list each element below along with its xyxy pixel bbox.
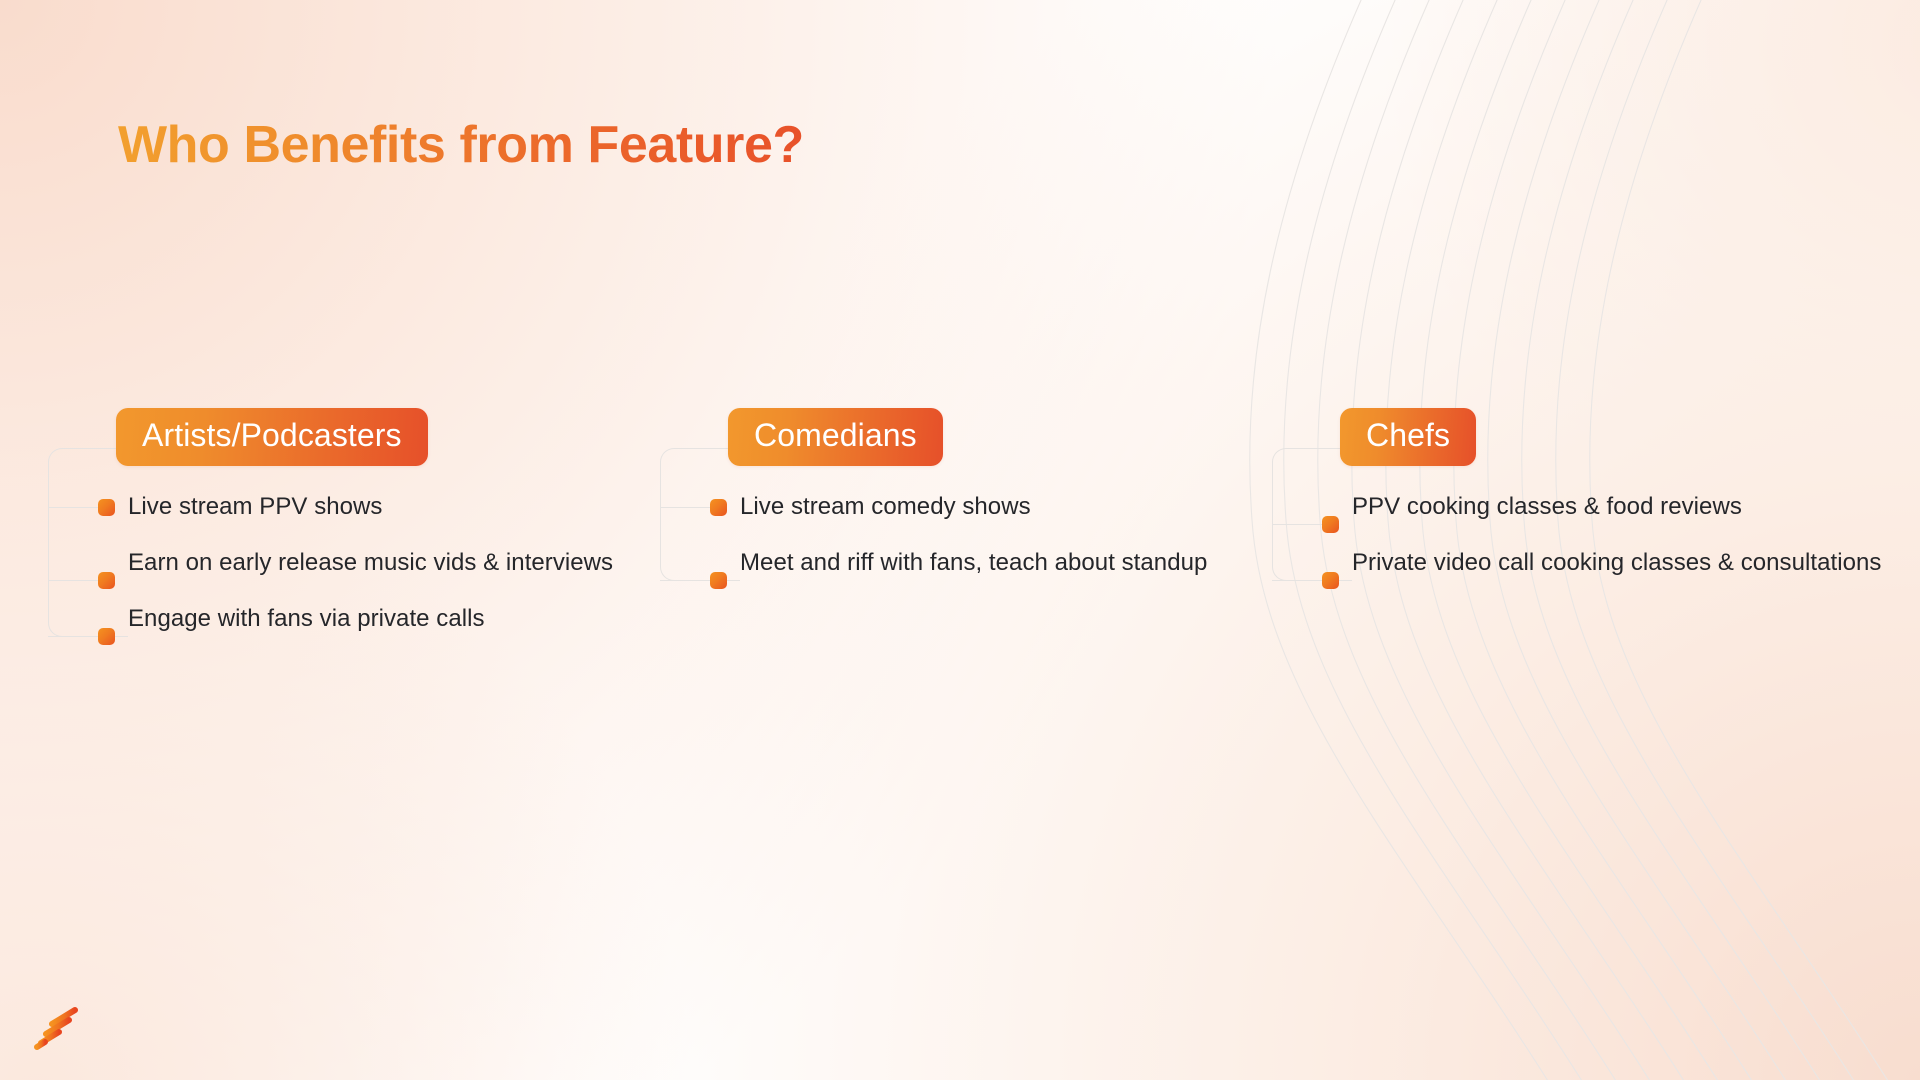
bullet-text: Engage with fans via private calls [128, 602, 485, 636]
list-item: Live stream comedy shows [660, 490, 1260, 524]
list-item: Meet and riff with fans, teach about sta… [660, 546, 1260, 580]
benefit-columns: Artists/Podcasters Live stream PPV shows… [0, 0, 1920, 1080]
bullet-text: Live stream PPV shows [128, 490, 382, 524]
brand-logo-icon[interactable] [32, 1002, 88, 1052]
column-heading-artists-podcasters[interactable]: Artists/Podcasters [116, 408, 428, 466]
bullet-dot-icon [1322, 516, 1339, 533]
benefit-column-artists-podcasters: Artists/Podcasters Live stream PPV shows… [48, 408, 668, 652]
bullet-dot-icon [710, 572, 727, 589]
bullet-text: Earn on early release music vids & inter… [128, 546, 613, 580]
bullet-dot-icon [710, 499, 727, 516]
list-item: Live stream PPV shows [48, 490, 668, 524]
benefit-column-comedians: Comedians Live stream comedy shows Meet … [660, 408, 1260, 596]
bullet-text: Private video call cooking classes & con… [1352, 546, 1881, 580]
column-heading-comedians[interactable]: Comedians [728, 408, 943, 466]
bullet-dot-icon [98, 628, 115, 645]
bullet-dot-icon [98, 499, 115, 516]
bullet-dot-icon [1322, 572, 1339, 589]
bullet-text: Meet and riff with fans, teach about sta… [740, 546, 1207, 580]
slide-canvas: Who Benefits from Feature? Artists/Podca… [0, 0, 1920, 1080]
list-item: Private video call cooking classes & con… [1272, 546, 1892, 580]
list-item: Earn on early release music vids & inter… [48, 546, 668, 580]
benefit-list-comedians: Live stream comedy shows Meet and riff w… [660, 490, 1260, 580]
bullet-text: Live stream comedy shows [740, 490, 1031, 524]
benefit-column-chefs: Chefs PPV cooking classes & food reviews… [1272, 408, 1892, 596]
column-heading-chefs[interactable]: Chefs [1340, 408, 1476, 466]
benefit-list-chefs: PPV cooking classes & food reviews Priva… [1272, 490, 1892, 580]
list-item: PPV cooking classes & food reviews [1272, 490, 1892, 524]
bullet-dot-icon [98, 572, 115, 589]
bullet-text: PPV cooking classes & food reviews [1352, 490, 1742, 524]
list-item: Engage with fans via private calls [48, 602, 668, 636]
benefit-list-artists-podcasters: Live stream PPV shows Earn on early rele… [48, 490, 668, 636]
